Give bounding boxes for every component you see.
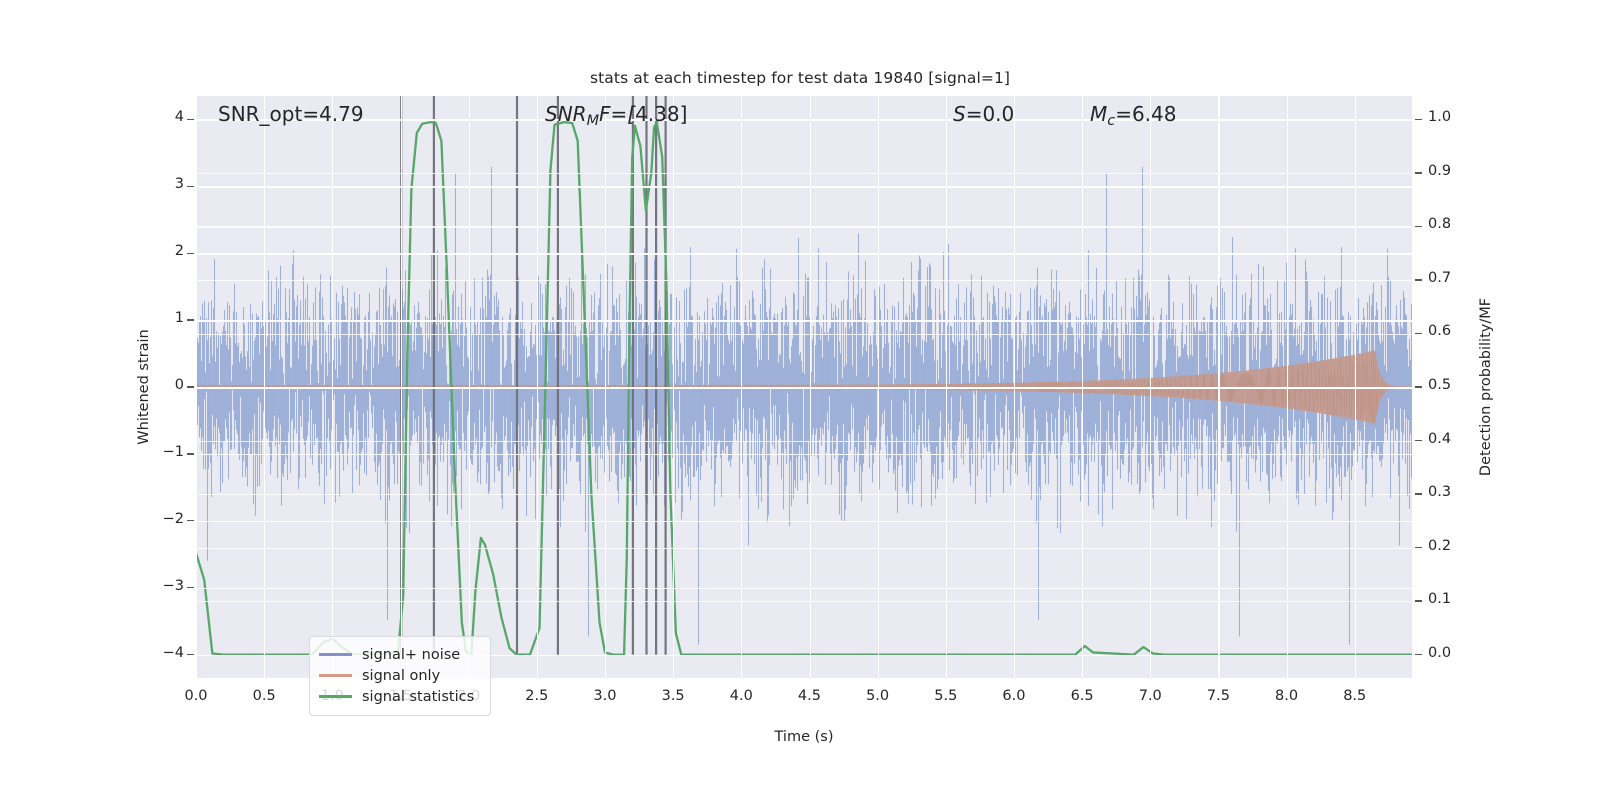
legend-label: signal only: [362, 668, 440, 684]
gridline-horizontal-right: [196, 173, 1412, 174]
x-axis-tick-label: 5.5: [916, 688, 976, 704]
gridline-horizontal: [196, 253, 1412, 255]
gridline-horizontal: [196, 454, 1412, 456]
y-axis-right-label: Detection probability/MF: [1478, 96, 1500, 678]
figure: stats at each timestep for test data 198…: [0, 0, 1600, 800]
legend-swatch-signal-statistics: [319, 695, 352, 697]
gridline-horizontal-right: [196, 280, 1412, 281]
gridline-horizontal: [196, 320, 1412, 322]
y-axis-tick-mark-left: [187, 453, 194, 454]
annotation-chirp-mass: Mc=6.48: [1090, 102, 1176, 129]
x-axis-tick-label: 0.5: [234, 688, 294, 704]
x-axis-tick-label: 3.0: [575, 688, 635, 704]
y-axis-tick-mark-right: [1415, 172, 1422, 173]
y-axis-tick-mark-left: [187, 119, 194, 120]
legend-label: signal statistics: [362, 689, 474, 705]
gridline-horizontal-right: [196, 548, 1412, 549]
y-axis-tick-mark-left: [187, 587, 194, 588]
annotation-s-stat: S=0.0: [953, 102, 1014, 126]
annotation-snr-mf: SNRMF=[4.38]: [545, 102, 687, 129]
chart-title: stats at each timestep for test data 198…: [0, 69, 1600, 87]
x-axis-tick-label: 4.5: [779, 688, 839, 704]
legend-item: signal+ noise: [319, 644, 481, 665]
plot-area: [196, 96, 1412, 678]
x-axis-tick-label: 7.5: [1188, 688, 1248, 704]
x-axis-tick-label: 0.0: [166, 688, 226, 704]
legend: signal+ noise signal only signal statist…: [309, 636, 491, 716]
y-axis-tick-mark-right: [1415, 226, 1422, 227]
x-axis-tick-label: 7.0: [1120, 688, 1180, 704]
x-axis-tick-label: 8.5: [1325, 688, 1385, 704]
noise-series: [197, 167, 1412, 645]
gridline-horizontal: [196, 588, 1412, 590]
gridline-horizontal: [196, 521, 1412, 523]
y-axis-tick-mark-right: [1415, 119, 1422, 120]
x-axis-tick-label: 2.5: [507, 688, 567, 704]
gridline-horizontal-right: [196, 387, 1412, 388]
gridline-horizontal: [196, 186, 1412, 188]
y-axis-tick-mark-left: [187, 319, 194, 320]
y-axis-tick-mark-right: [1415, 547, 1422, 548]
gridline-horizontal-right: [196, 441, 1412, 442]
legend-label: signal+ noise: [362, 647, 460, 663]
y-axis-tick-mark-right: [1415, 600, 1422, 601]
x-axis-tick-label: 5.0: [848, 688, 908, 704]
legend-item: signal statistics: [319, 686, 481, 707]
y-axis-tick-mark-left: [187, 253, 194, 254]
legend-swatch-signal-noise: [319, 653, 352, 655]
y-axis-tick-mark-right: [1415, 493, 1422, 494]
legend-swatch-signal-only: [319, 674, 352, 676]
x-axis-tick-label: 8.0: [1257, 688, 1317, 704]
x-axis-tick-label: 3.5: [643, 688, 703, 704]
y-axis-tick-mark-right: [1415, 386, 1422, 387]
y-axis-tick-mark-right: [1415, 440, 1422, 441]
x-axis-tick-label: 6.0: [984, 688, 1044, 704]
gridline-horizontal-right: [196, 334, 1412, 335]
legend-item: signal only: [319, 665, 481, 686]
gridline-horizontal-right: [196, 226, 1412, 227]
y-axis-tick-mark-right: [1415, 654, 1422, 655]
gridline-horizontal-right: [196, 119, 1412, 120]
gridline-horizontal-right: [196, 494, 1412, 495]
x-axis-tick-label: 6.5: [1052, 688, 1112, 704]
y-axis-tick-mark-left: [187, 186, 194, 187]
y-axis-tick-mark-right: [1415, 279, 1422, 280]
x-axis-label: Time (s): [196, 729, 1412, 745]
y-axis-tick-mark-left: [187, 520, 194, 521]
y-axis-tick-mark-left: [187, 654, 194, 655]
y-axis-tick-mark-right: [1415, 333, 1422, 334]
y-axis-left-label: Whitened strain: [136, 96, 158, 678]
x-axis-tick-label: 4.0: [711, 688, 771, 704]
y-axis-tick-mark-left: [187, 386, 194, 387]
gridline-horizontal-right: [196, 601, 1412, 602]
annotation-snr-opt: SNR_opt=4.79: [218, 102, 364, 126]
